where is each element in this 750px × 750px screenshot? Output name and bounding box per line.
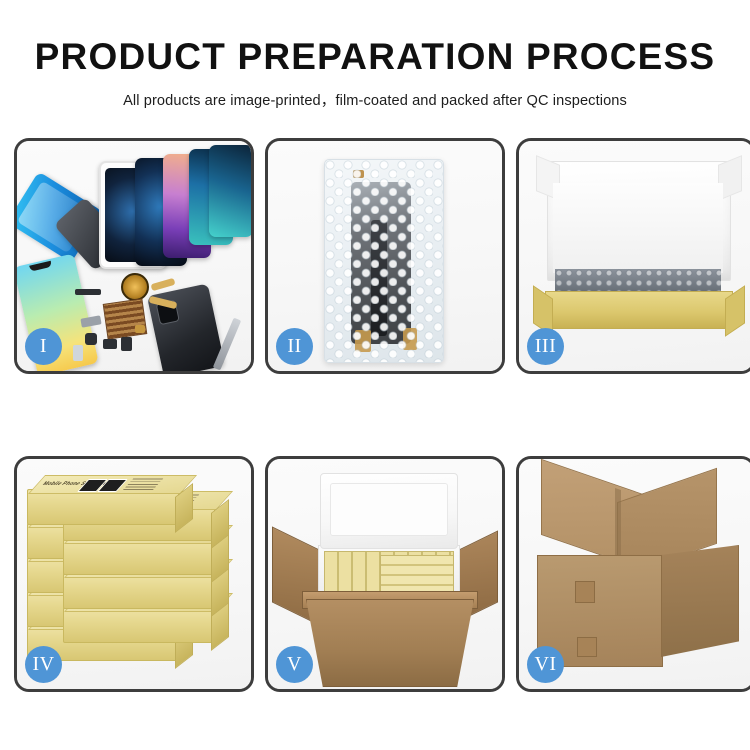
box-label-back: Mobile Phone Spare Parts [34, 477, 167, 491]
header: PRODUCT PREPARATION PROCESS All products… [0, 0, 750, 110]
stacked-box [63, 573, 215, 609]
foam-sheet [553, 183, 723, 273]
process-step-4[interactable]: Mobile Phone Spare Parts Mobile Phone Sp… [14, 456, 254, 692]
process-step-5[interactable]: V [265, 456, 505, 692]
process-step-grid: I II III [14, 138, 736, 692]
bubble-texture [325, 160, 443, 362]
step-1-badge: I [25, 328, 62, 365]
page-subtitle: All products are image-printed，film-coat… [0, 89, 750, 110]
button-part [121, 337, 132, 351]
packed-boxes-row-2 [380, 555, 454, 595]
bubble-wrap-bag [324, 159, 444, 363]
process-step-6[interactable]: VI [516, 456, 750, 692]
carton-top-seam [615, 488, 621, 562]
page-title: PRODUCT PREPARATION PROCESS [0, 38, 750, 77]
carton-tape-lower [577, 637, 597, 657]
carton-body [306, 599, 474, 687]
stacked-box [63, 607, 215, 643]
foam-box-lid [320, 473, 458, 549]
stacked-box [63, 539, 215, 575]
phone-display-teal-2 [209, 145, 253, 237]
process-step-3[interactable]: III [516, 138, 750, 374]
gold-contact-part [135, 325, 145, 333]
process-step-2[interactable]: II [265, 138, 505, 374]
step-3-badge: III [527, 328, 564, 365]
carton-side-face [661, 545, 739, 657]
bracket-part [80, 315, 101, 327]
connector-part [75, 289, 101, 295]
camera-module-part [85, 333, 97, 345]
speaker-coil-part [121, 273, 149, 301]
yellow-box-base [545, 291, 733, 329]
box-stack: Mobile Phone Spare Parts Mobile Phone Sp… [27, 475, 245, 681]
sim-tray-part [73, 345, 83, 361]
step-6-badge: VI [527, 646, 564, 683]
flex-cable-part [151, 278, 176, 291]
step-5-badge: V [276, 646, 313, 683]
step-2-badge: II [276, 328, 313, 365]
carton-tape-upper [575, 581, 595, 603]
logic-board-part [103, 298, 148, 339]
screw-group-part [103, 339, 117, 349]
step-4-badge: IV [25, 646, 62, 683]
stacked-box-back-labeled: Mobile Phone Spare Parts [27, 489, 179, 525]
process-step-1[interactable]: I [14, 138, 254, 374]
